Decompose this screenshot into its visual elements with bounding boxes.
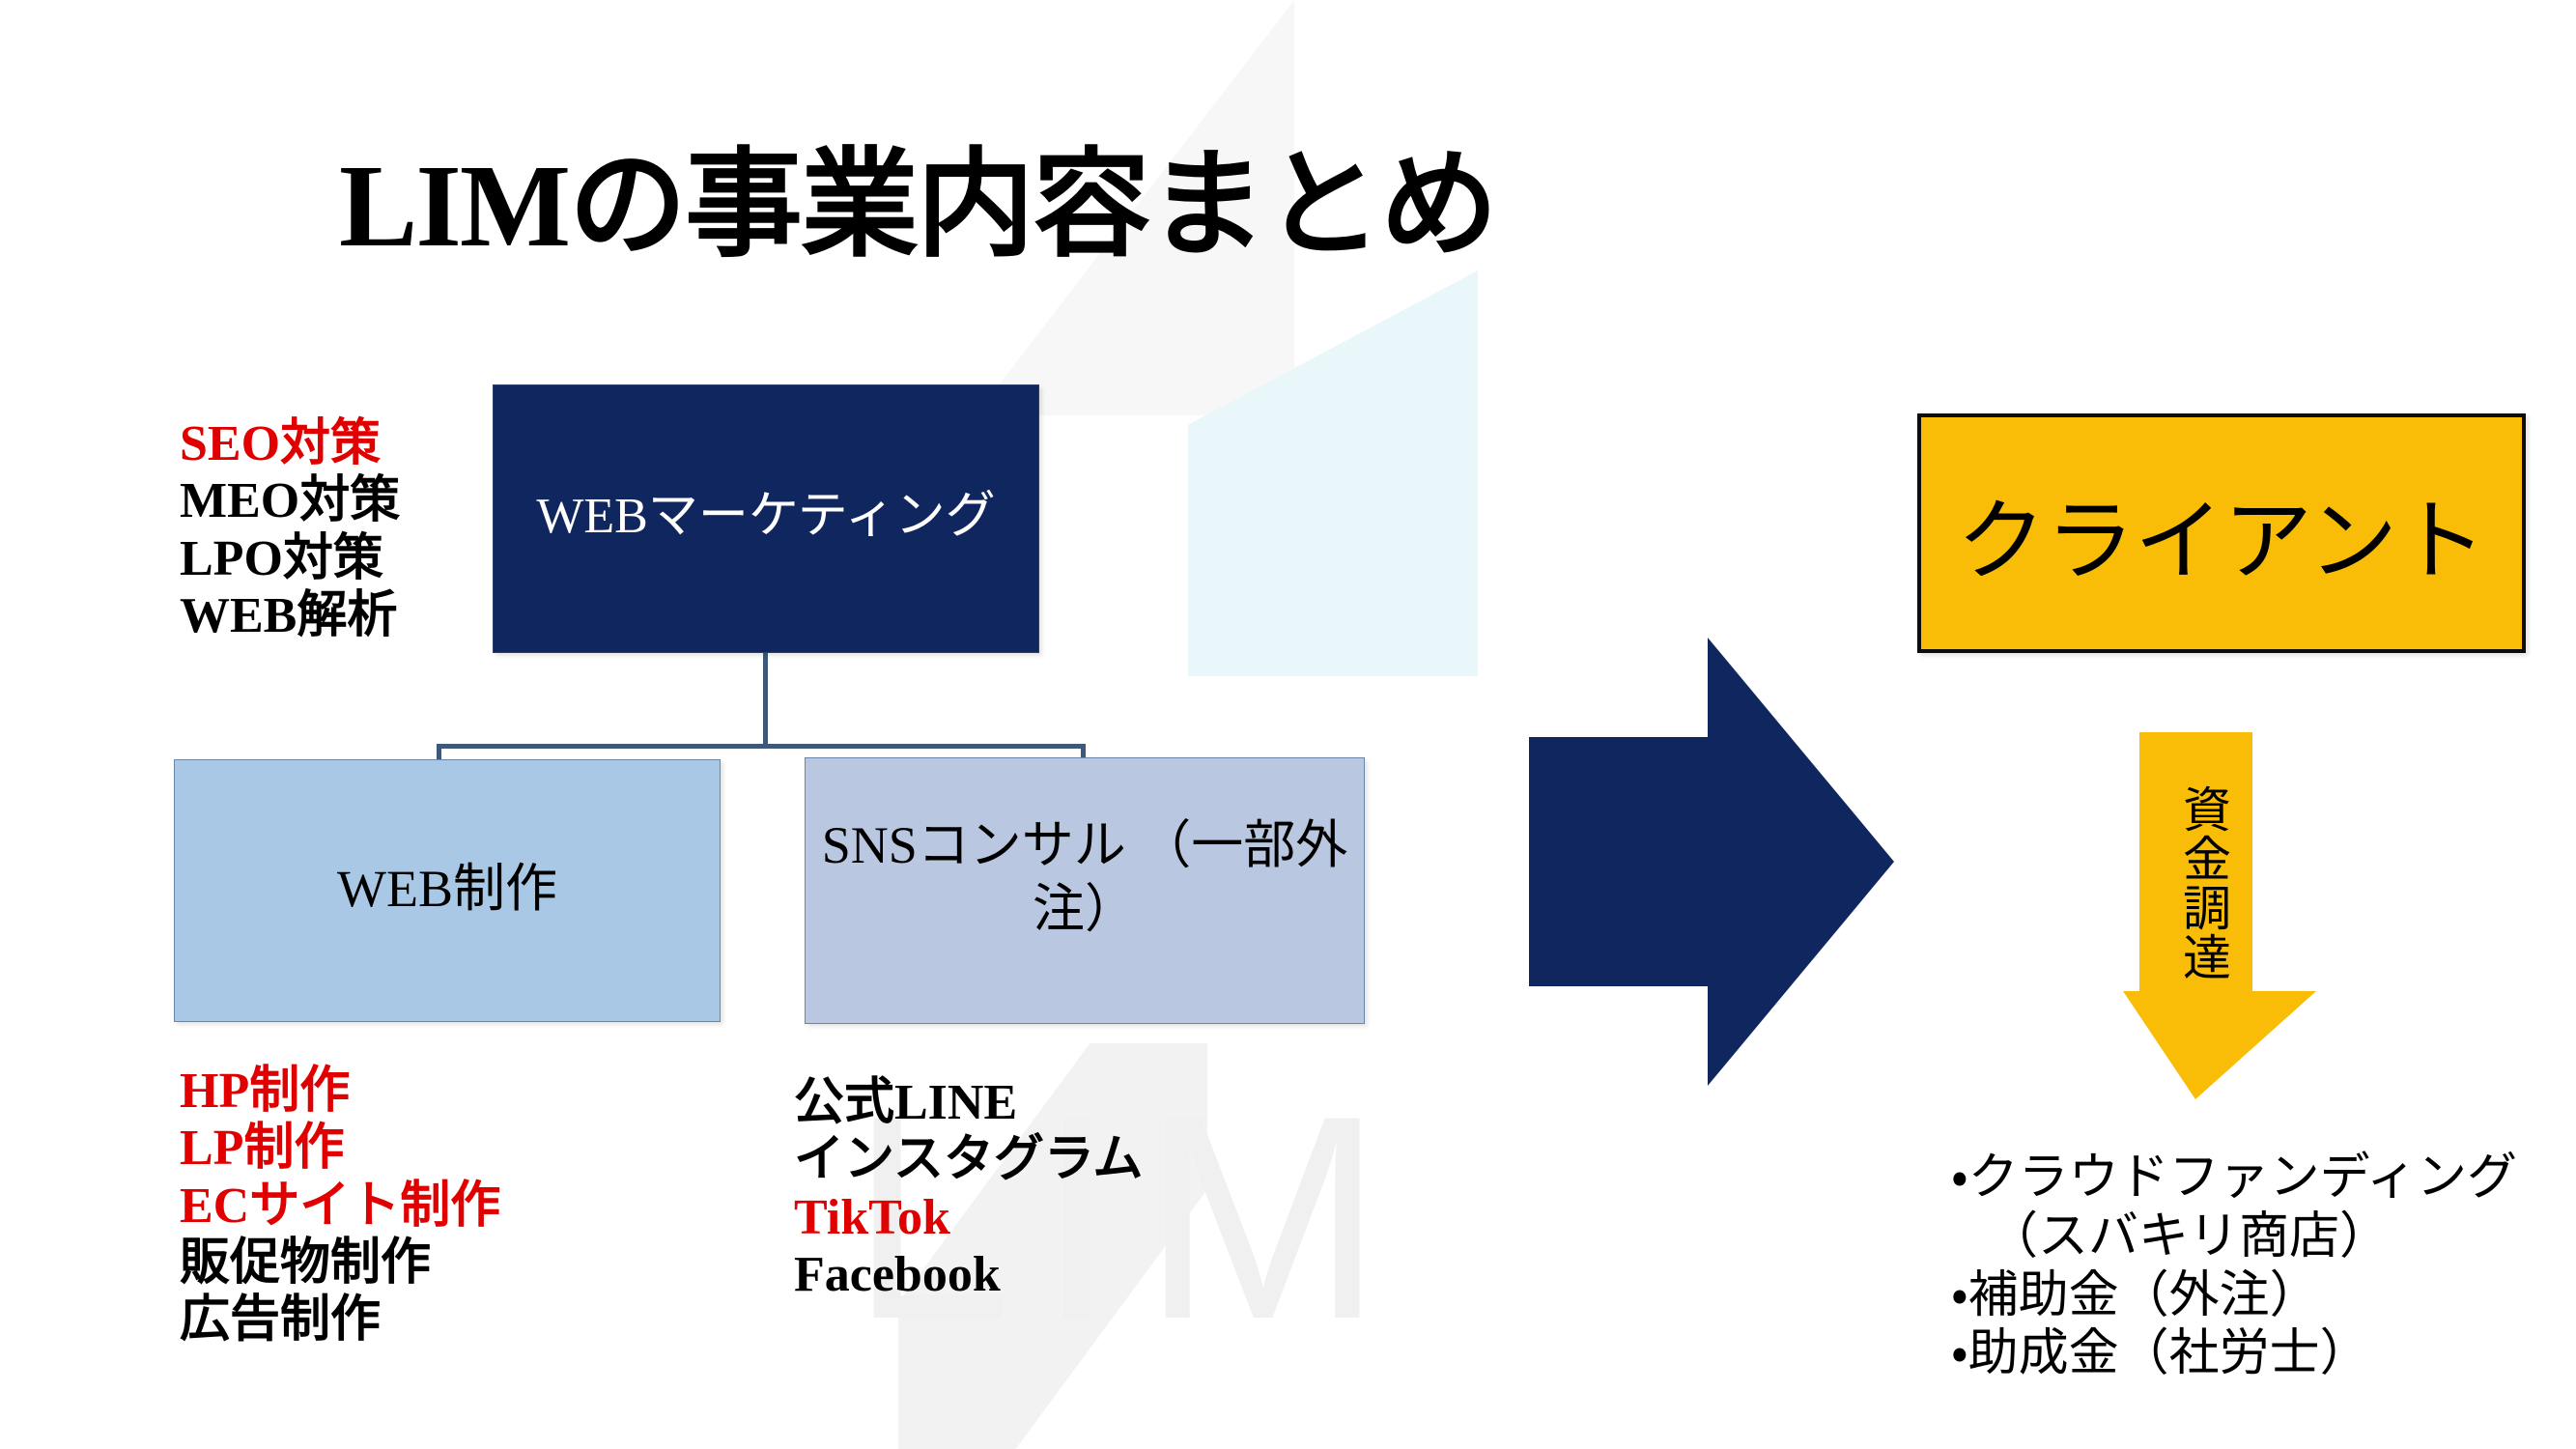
notes-marketing-services: SEO対策MEO対策LPO対策WEB解析 [180,415,400,644]
funding-note-item: ・助成金（社労士） [1951,1325,2517,1384]
marketing-note-item: SEO対策 [180,415,400,472]
box-web-production: WEB制作 [174,759,721,1022]
connector-vertical-trunk [763,653,768,746]
box-web-production-label: WEB制作 [337,845,557,922]
web-note-item: HP制作 [180,1063,500,1120]
funding-note-item: ・クラウドファンディング [1951,1150,2517,1208]
notes-web-production-services: HP制作LP制作ECサイト制作販促物制作広告制作 [180,1063,500,1349]
box-client: クライアント [1917,413,2526,653]
box-client-label: クライアント [1957,469,2486,598]
box-sns-consulting-line1: SNSコンサル [822,816,1126,874]
sns-note-item: TikTok [794,1189,1143,1246]
page-title: LIMの事業内容まとめ [0,145,1835,269]
box-sns-consulting: SNSコンサル （一部外注） [805,757,1365,1024]
notes-sns-channels: 公式LINEインスタグラムTikTokFacebook [794,1074,1143,1303]
sns-note-item: Facebook [794,1246,1143,1303]
marketing-note-item: MEO対策 [180,472,400,529]
web-note-item: ECサイト制作 [180,1178,500,1235]
web-note-item: 広告制作 [180,1292,500,1349]
right-arrow-icon [1529,580,1894,1314]
box-web-marketing: WEBマーケティング [493,384,1039,653]
marketing-note-item: WEB解析 [180,587,400,644]
funding-note-item: （スバキリ商店） [1951,1208,2517,1267]
marketing-note-item: LPO対策 [180,530,400,587]
web-note-item: 販促物制作 [180,1235,500,1292]
connector-horizontal-bar [437,744,1086,749]
box-sns-consulting-label: SNSコンサル （一部外注） [806,814,1364,942]
down-arrow-label: 資金調達 [2171,784,2227,981]
sns-note-item: インスタグラム [794,1131,1143,1188]
notes-funding-methods: ・クラウドファンディング（スバキリ商店）・補助金（外注）・助成金（社労士） [1951,1150,2517,1384]
slide-canvas: LIM LIMの事業内容まとめ WEBマーケティング WEB制作 SNSコンサル… [0,0,2576,1449]
funding-note-item: ・補助金（外注） [1951,1267,2517,1326]
sns-note-item: 公式LINE [794,1074,1143,1131]
box-web-marketing-label: WEBマーケティング [536,474,995,547]
web-note-item: LP制作 [180,1120,500,1177]
